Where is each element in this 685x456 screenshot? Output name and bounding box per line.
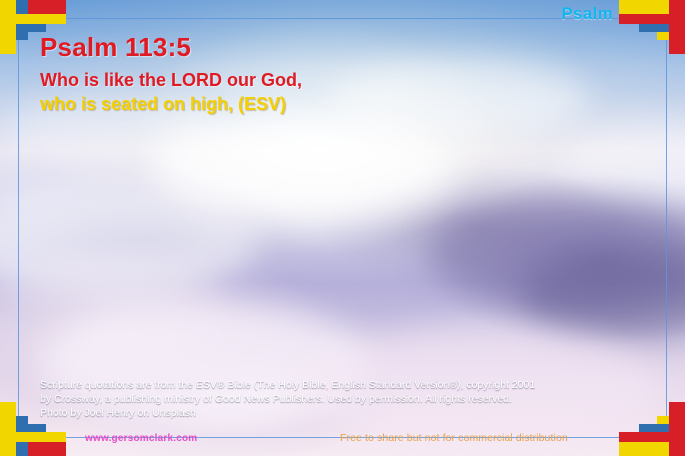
credits-block: Scripture quotations are from the ESV® B… (40, 378, 640, 420)
credits-line-2: by Crossway, a publishing ministry of Go… (40, 392, 640, 406)
credits-line-1: Scripture quotations are from the ESV® B… (40, 378, 640, 392)
scripture-reference: Psalm 113:5 (40, 32, 191, 63)
sharing-notice: Free to share but not for commercial dis… (340, 432, 568, 444)
corner-ornament-top-right (619, 0, 685, 54)
book-label: Psalm (561, 4, 613, 24)
scripture-image-card: Psalm Psalm 113:5 Who is like the LORD o… (0, 0, 685, 456)
website-url[interactable]: www.gersomclark.com (85, 433, 197, 444)
verse-text-line-2: who is seated on high, (ESV) (40, 94, 286, 115)
credits-line-3: Photo by Joel Henry on Unsplash (40, 406, 640, 420)
verse-text-line-1: Who is like the LORD our God, (40, 70, 302, 91)
